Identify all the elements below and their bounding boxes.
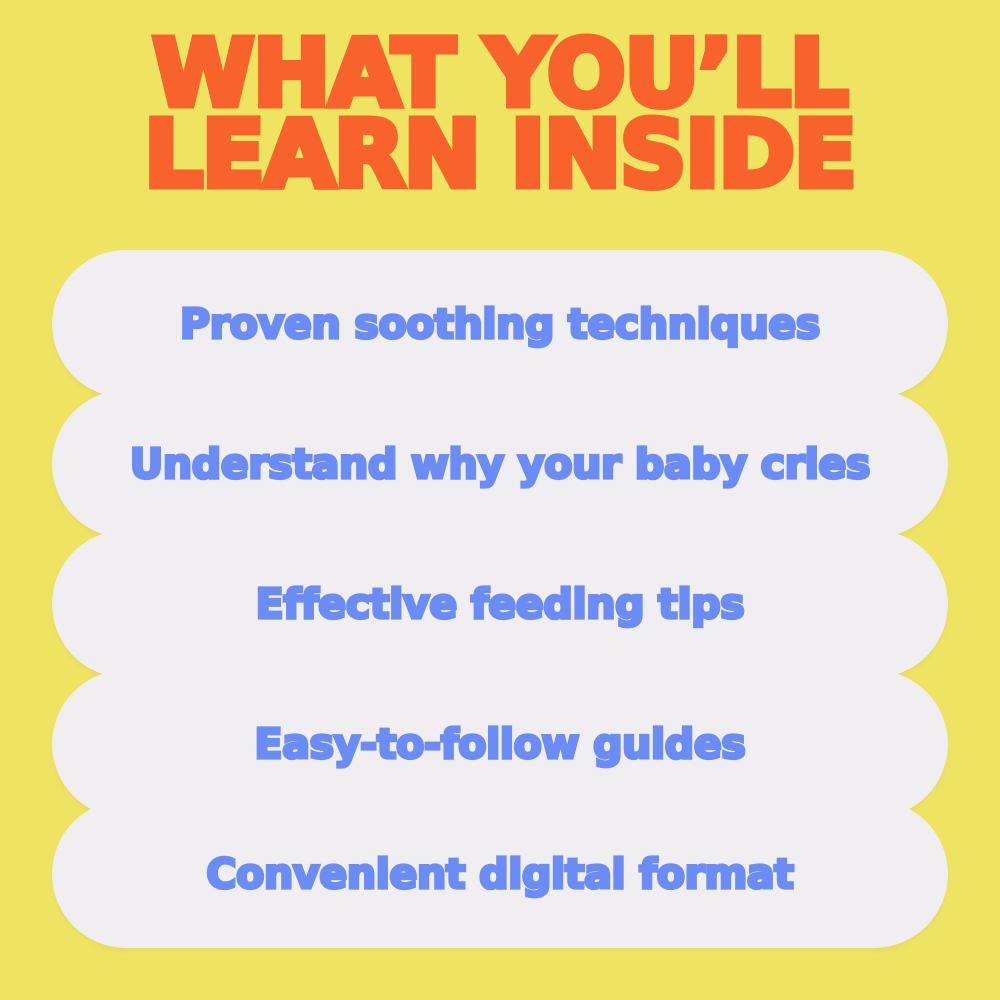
benefit-list: Proven soothing techniques Understand wh…: [52, 250, 948, 948]
page-title: WHAT YOU’LL LEARN INSIDE: [0, 34, 1000, 196]
benefit-card-label: Convenient digital format: [206, 850, 793, 898]
benefit-card-label: Understand why your baby cries: [130, 440, 870, 488]
title-line-2: LEARN INSIDE: [0, 115, 1000, 196]
benefit-card[interactable]: Convenient digital format: [52, 800, 948, 948]
benefit-card-label: Effective feeding tips: [256, 580, 745, 628]
benefit-card-label: Proven soothing techniques: [180, 300, 820, 348]
benefit-card[interactable]: Effective feeding tips: [52, 530, 948, 678]
benefit-card-label: Easy-to-follow guides: [255, 720, 746, 768]
poster-root: WHAT YOU’LL LEARN INSIDE Proven soothing…: [0, 0, 1000, 1000]
benefit-card[interactable]: Easy-to-follow guides: [52, 670, 948, 818]
benefit-card[interactable]: Proven soothing techniques: [52, 250, 948, 398]
benefit-card[interactable]: Understand why your baby cries: [52, 390, 948, 538]
